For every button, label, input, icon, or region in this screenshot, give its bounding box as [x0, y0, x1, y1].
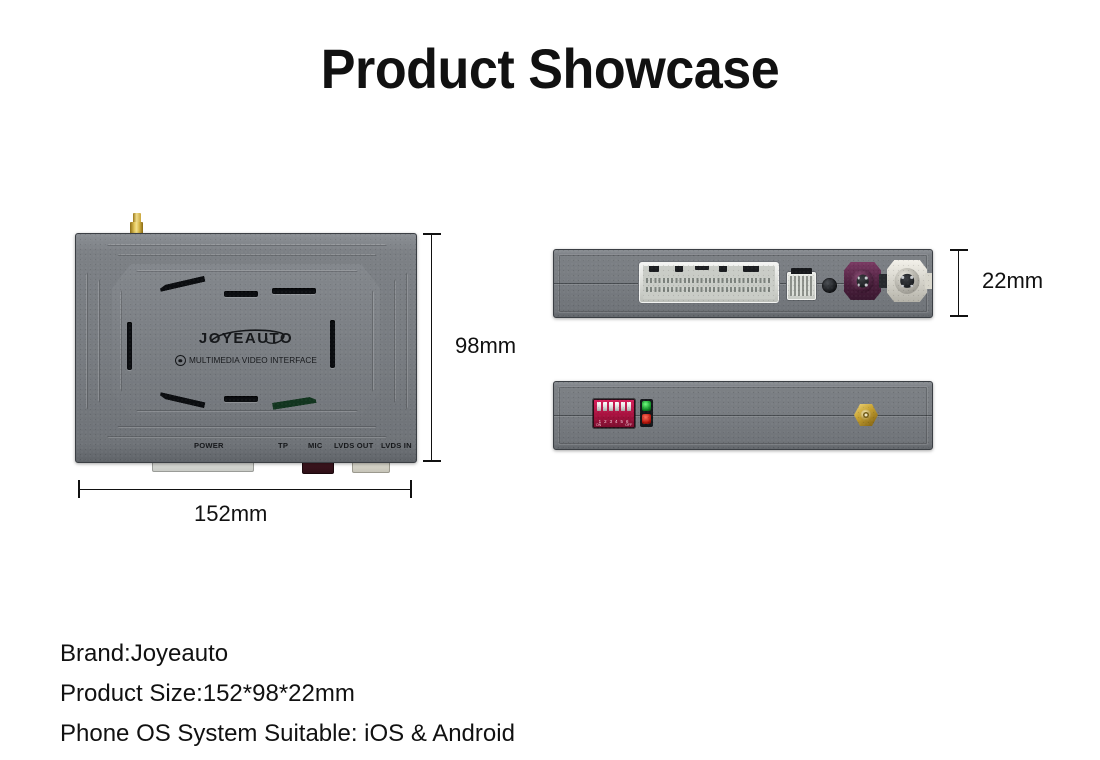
harness-pin-row-1	[646, 278, 772, 283]
harness-pin-row-2	[646, 287, 772, 292]
aux-connector	[787, 272, 816, 300]
port-label-lvds-in: LVDS IN	[381, 441, 412, 450]
dip-switch-6[interactable]	[627, 402, 631, 411]
aux-connector-pins	[790, 276, 813, 296]
dip-switch-5[interactable]	[621, 402, 625, 411]
dip-off-label: OFF	[625, 423, 632, 427]
dim-22-line	[958, 249, 959, 316]
device-top-view: JOYEAUTO MULTIMEDIA VIDEO INTERFACE POWE…	[75, 233, 417, 463]
hsd-connector-white	[887, 260, 927, 302]
dim-152-cap-right	[410, 480, 412, 498]
page-title: Product Showcase	[39, 36, 1062, 101]
dim-98-cap-bottom	[423, 460, 441, 462]
port-label-lvds-out: LVDS OUT	[334, 441, 373, 450]
dim-label-height: 98mm	[455, 333, 516, 359]
sma-jack-center-pin	[865, 414, 868, 417]
dip-switch-1[interactable]	[597, 402, 601, 411]
led-holder	[640, 399, 653, 427]
device-side-view-connectors	[553, 249, 933, 318]
harness-notch-1	[649, 266, 659, 272]
port-label-power: POWER	[194, 441, 224, 450]
aux-connector-cap	[791, 268, 813, 274]
product-showcase-page: Product Showcase GSM	[0, 0, 1100, 760]
dim-98-cap-top	[423, 233, 441, 235]
dip-switch-2[interactable]	[603, 402, 607, 411]
dip-on-label: ON	[596, 423, 601, 427]
power-led	[642, 401, 651, 411]
sma-antenna-jack	[854, 404, 878, 426]
device-side-view-switches: 1 2 3 4 5 6 ON OFF	[553, 381, 933, 450]
dim-152-line	[78, 489, 412, 490]
port-label-tp: TP	[278, 441, 288, 450]
product-specs: Brand:Joyeauto Product Size:152*98*22mm …	[60, 634, 760, 754]
harness-notch-2	[675, 266, 683, 272]
harness-notch-3	[695, 266, 709, 270]
harness-face	[643, 266, 775, 299]
port-label-mic: MIC	[308, 441, 323, 450]
harness-notch-4	[719, 266, 727, 272]
spec-size: Product Size:152*98*22mm	[60, 674, 760, 714]
dim-22-cap-bottom	[950, 315, 968, 317]
dip-switch[interactable]: 1 2 3 4 5 6 ON OFF	[593, 399, 635, 428]
dip-switch-onoff: ON OFF	[595, 423, 633, 427]
harness-notch-5	[743, 266, 759, 272]
dim-label-depth: 22mm	[982, 268, 1043, 294]
dim-22-cap-top	[950, 249, 968, 251]
spec-brand: Brand:Joyeauto	[60, 634, 760, 674]
main-harness-connector	[639, 262, 779, 303]
dip-switch-3[interactable]	[609, 402, 613, 411]
bottom-band-engrave	[98, 254, 396, 428]
hsd-white-core	[900, 274, 914, 288]
dip-switch-4[interactable]	[615, 402, 619, 411]
dim-98-line	[431, 233, 432, 461]
status-led	[642, 414, 651, 424]
dim-label-width: 152mm	[194, 501, 267, 527]
hsd-white-tab	[925, 273, 933, 288]
round-port	[822, 278, 837, 293]
spec-os: Phone OS System Suitable: iOS & Android	[60, 714, 760, 754]
hsd-connector-purple	[844, 262, 881, 300]
hsd-purple-core	[856, 275, 869, 288]
